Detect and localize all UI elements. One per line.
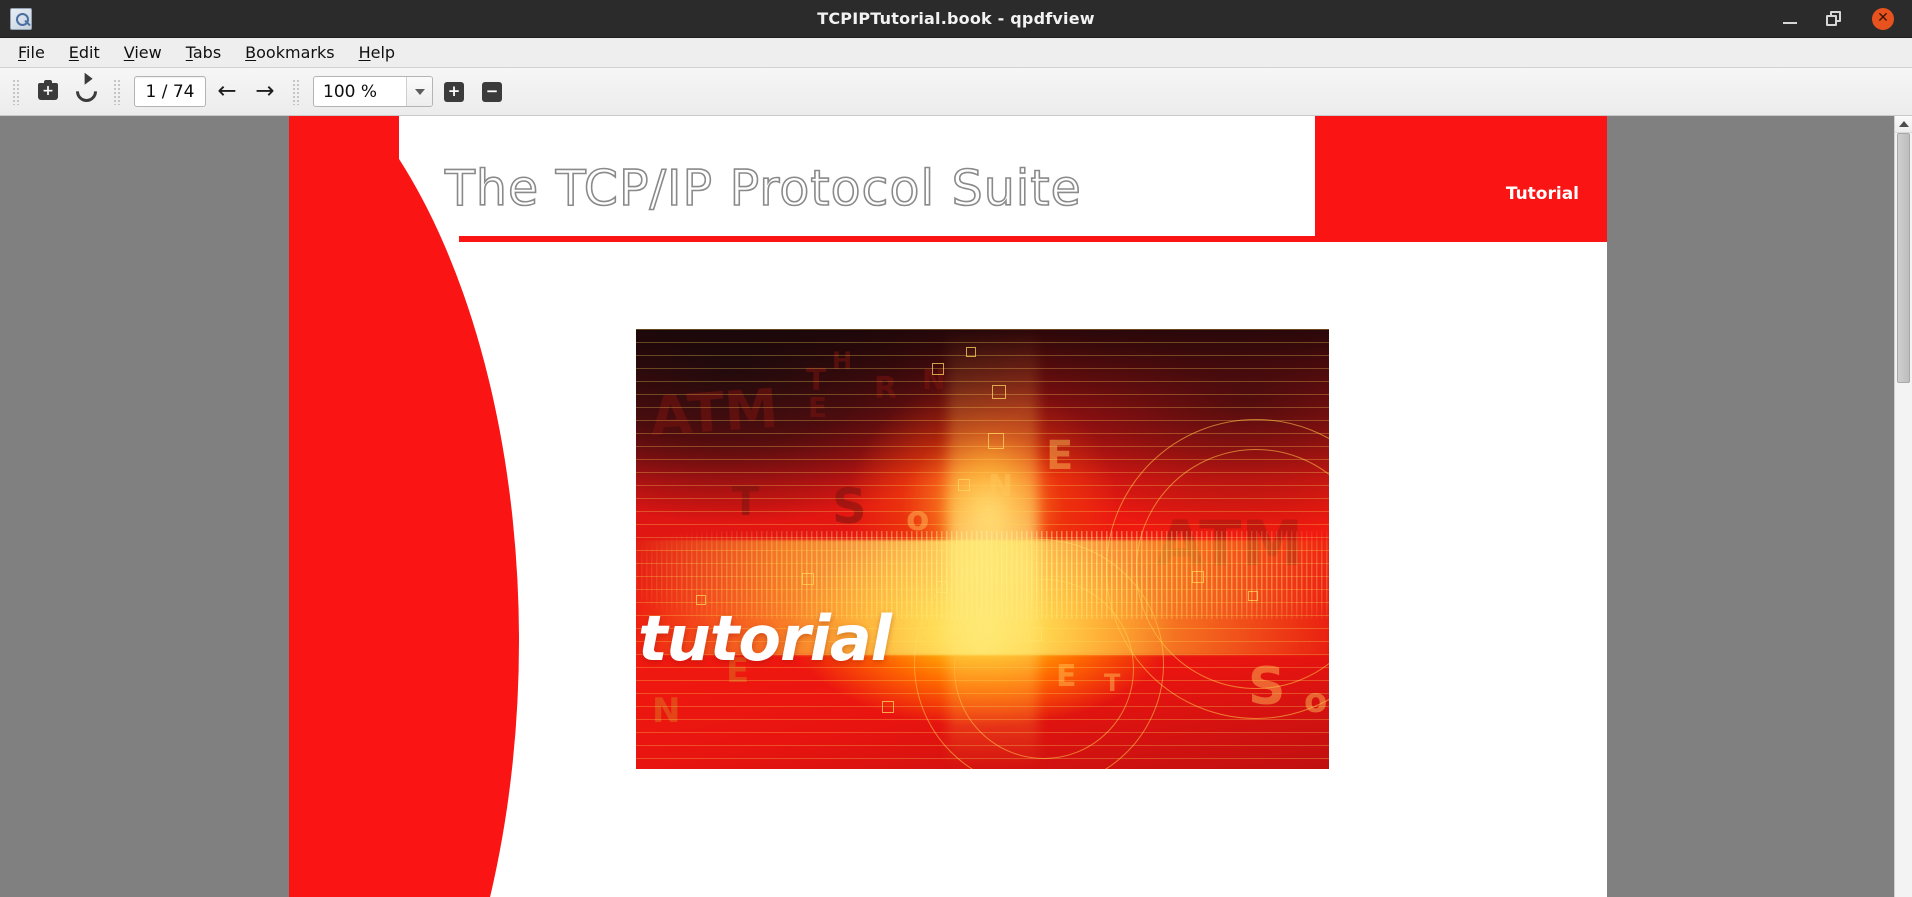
menu-file[interactable]: File: [6, 40, 57, 65]
restore-icon-back: [1826, 15, 1837, 26]
menu-bookmarks[interactable]: Bookmarks: [233, 40, 346, 65]
open-file-button[interactable]: [31, 75, 65, 109]
next-page-button[interactable]: →: [248, 75, 282, 109]
page-title: The TCP/IP Protocol Suite: [445, 160, 1082, 217]
minimize-button[interactable]: [1780, 9, 1800, 29]
menu-edit[interactable]: Edit: [57, 40, 112, 65]
page-header-red-right: [1315, 116, 1607, 242]
scroll-up-button[interactable]: [1895, 116, 1912, 133]
page-number-input[interactable]: 1 / 74: [134, 76, 206, 107]
close-icon: ✕: [1877, 11, 1889, 25]
toolbar-grip-1[interactable]: [12, 79, 21, 105]
vertical-scrollbar[interactable]: [1894, 116, 1912, 897]
app-icon: [10, 8, 32, 30]
page-tutorial-badge: Tutorial: [1506, 184, 1579, 204]
zoom-combobox[interactable]: 100 %: [313, 76, 433, 107]
pdf-page[interactable]: The TCP/IP Protocol Suite Tutorial ATM T…: [289, 116, 1607, 897]
page-header-band: The TCP/IP Protocol Suite Tutorial: [289, 116, 1607, 242]
arrow-right-icon: →: [255, 80, 274, 103]
toolbar: 1 / 74 ← → 100 % + −: [0, 68, 1912, 116]
close-button[interactable]: ✕: [1872, 8, 1894, 30]
window-controls: ✕: [1780, 8, 1912, 30]
restore-button[interactable]: [1826, 9, 1846, 29]
zoom-in-icon: +: [444, 82, 464, 102]
open-file-icon: [38, 83, 58, 100]
zoom-in-button[interactable]: +: [437, 75, 471, 109]
page-header-rule: [459, 236, 1315, 242]
toolbar-grip-2[interactable]: [113, 79, 122, 105]
menu-view[interactable]: View: [112, 40, 174, 65]
scrollbar-thumb[interactable]: [1897, 133, 1910, 383]
previous-page-button[interactable]: ←: [210, 75, 244, 109]
chevron-down-icon[interactable]: [406, 77, 432, 106]
menu-help[interactable]: Help: [347, 40, 407, 65]
window-titlebar: TCPIPTutorial.book - qpdfview ✕: [0, 0, 1912, 38]
zoom-out-button[interactable]: −: [475, 75, 509, 109]
toolbar-grip-3[interactable]: [292, 79, 301, 105]
arrow-left-icon: ←: [217, 80, 236, 103]
refresh-icon: [71, 77, 101, 107]
window-title: TCPIPTutorial.book - qpdfview: [0, 9, 1912, 28]
menu-tabs[interactable]: Tabs: [174, 40, 233, 65]
cover-image: ATM T H E R N T S o N E ATM E T S o E N: [636, 329, 1329, 769]
menubar: File Edit View Tabs Bookmarks Help: [0, 38, 1912, 68]
zoom-value[interactable]: 100 %: [314, 77, 406, 106]
zoom-out-icon: −: [482, 82, 502, 102]
cover-caption: tutorial: [638, 602, 891, 675]
refresh-button[interactable]: [69, 75, 103, 109]
document-viewport[interactable]: The TCP/IP Protocol Suite Tutorial ATM T…: [0, 116, 1912, 897]
